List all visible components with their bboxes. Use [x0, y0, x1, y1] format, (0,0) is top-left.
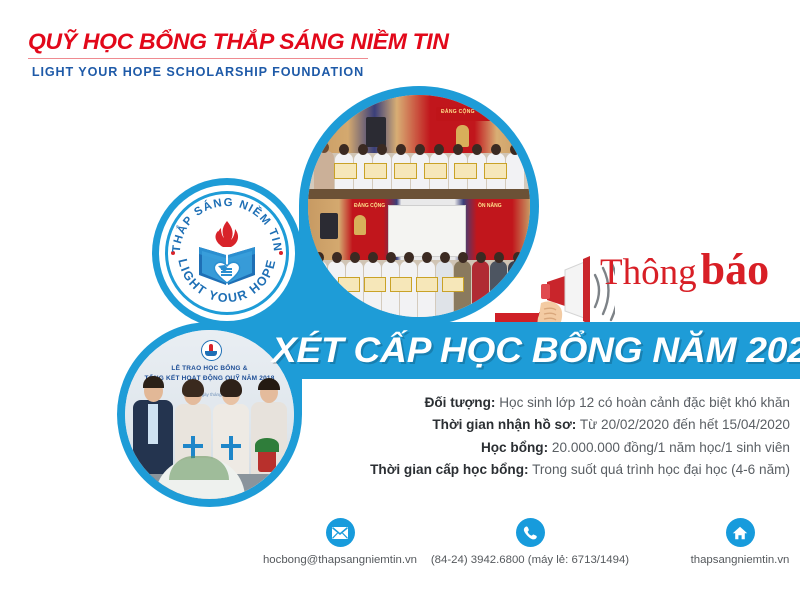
- detail-value: Từ 20/02/2020 đến hết 15/04/2020: [580, 417, 790, 432]
- detail-row: Thời gian cấp học bổng: Trong suốt quá t…: [300, 459, 790, 481]
- stage-banner-text-3: ỒN NÂNG: [478, 203, 502, 209]
- detail-label: Thời gian cấp học bổng:: [370, 462, 528, 477]
- organization-header: QUỸ HỌC BỔNG THẮP SÁNG NIỀM TIN LIGHT YO…: [28, 30, 373, 79]
- phone-text: (84-24) 3942.6800 (máy lẻ: 6713/1494): [420, 554, 640, 566]
- detail-value: Trong suốt quá trình học đại học (4-6 nă…: [532, 462, 790, 477]
- envelope-icon: [326, 518, 355, 547]
- banner-title: XÉT CẤP HỌC BỔNG NĂM 2020: [285, 322, 800, 379]
- detail-value: 20.000.000 đồng/1 năm học/1 sinh viên: [552, 440, 790, 455]
- org-title-vi: QUỸ HỌC BỔNG THẮP SÁNG NIỀM TIN: [28, 30, 380, 54]
- home-icon: [726, 518, 755, 547]
- foundation-logo: THẮP SÁNG NIỀM TIN LIGHT YOUR HOPE: [152, 178, 302, 328]
- contact-footer: hocbong@thapsangniemtin.vn (84-24) 3942.…: [240, 518, 800, 588]
- detail-label: Học bổng:: [481, 440, 548, 455]
- logo-disc: THẮP SÁNG NIỀM TIN LIGHT YOUR HOPE: [159, 185, 295, 321]
- detail-value: Học sinh lớp 12 có hoàn cảnh đặc biệt kh…: [499, 395, 790, 410]
- detail-label: Thời gian nhận hồ sơ:: [432, 417, 576, 432]
- main-banner: XÉT CẤP HỌC BỔNG NĂM 2020: [300, 322, 800, 379]
- contact-email[interactable]: hocbong@thapsangniemtin.vn: [240, 518, 440, 566]
- org-title-en: LIGHT YOUR HOPE SCHOLARSHIP FOUNDATION: [28, 65, 368, 79]
- detail-row: Học bổng: 20.000.000 đồng/1 năm học/1 si…: [300, 437, 790, 459]
- contact-phone[interactable]: (84-24) 3942.6800 (máy lẻ: 6713/1494): [420, 518, 640, 566]
- stage-banner-text: ĐẢNG CỘNG: [441, 109, 475, 115]
- stage-banner-text-2: ĐẢNG CỘNG: [354, 203, 385, 209]
- photo-bottom-clip: LỄ TRAO HỌC BỔNG & TỔNG KẾT HOẠT ĐỘNG QU…: [125, 330, 294, 499]
- backdrop-caption-line1: LỄ TRAO HỌC BỔNG &: [125, 365, 294, 372]
- announcement-word-thong: Thông: [600, 252, 697, 293]
- scholarship-details: Đối tượng: Học sinh lớp 12 có hoàn cảnh …: [300, 392, 790, 482]
- flame-icon: [216, 221, 239, 247]
- poster-canvas: QUỸ HỌC BỔNG THẮP SÁNG NIỀM TIN LIGHT YO…: [0, 0, 800, 604]
- detail-row: Thời gian nhận hồ sơ: Từ 20/02/2020 đến …: [300, 414, 790, 436]
- announcement-word-bao: báo: [701, 245, 769, 294]
- flower-bouquet-red: [258, 448, 276, 472]
- award-trophy-2: [221, 436, 241, 460]
- detail-row: Đối tượng: Học sinh lớp 12 có hoàn cảnh …: [300, 392, 790, 414]
- backdrop-logo-icon: [201, 340, 222, 361]
- contact-website[interactable]: thapsangniemtin.vn: [640, 518, 800, 566]
- detail-label: Đối tượng:: [425, 395, 496, 410]
- website-text: thapsangniemtin.vn: [640, 554, 800, 566]
- email-text: hocbong@thapsangniemtin.vn: [240, 554, 440, 566]
- photo-top-upper: ĐẢNG CỘNG: [308, 95, 530, 199]
- announcement-label: Thôngbáo: [600, 248, 769, 292]
- phone-icon: [516, 518, 545, 547]
- header-divider: [28, 58, 368, 60]
